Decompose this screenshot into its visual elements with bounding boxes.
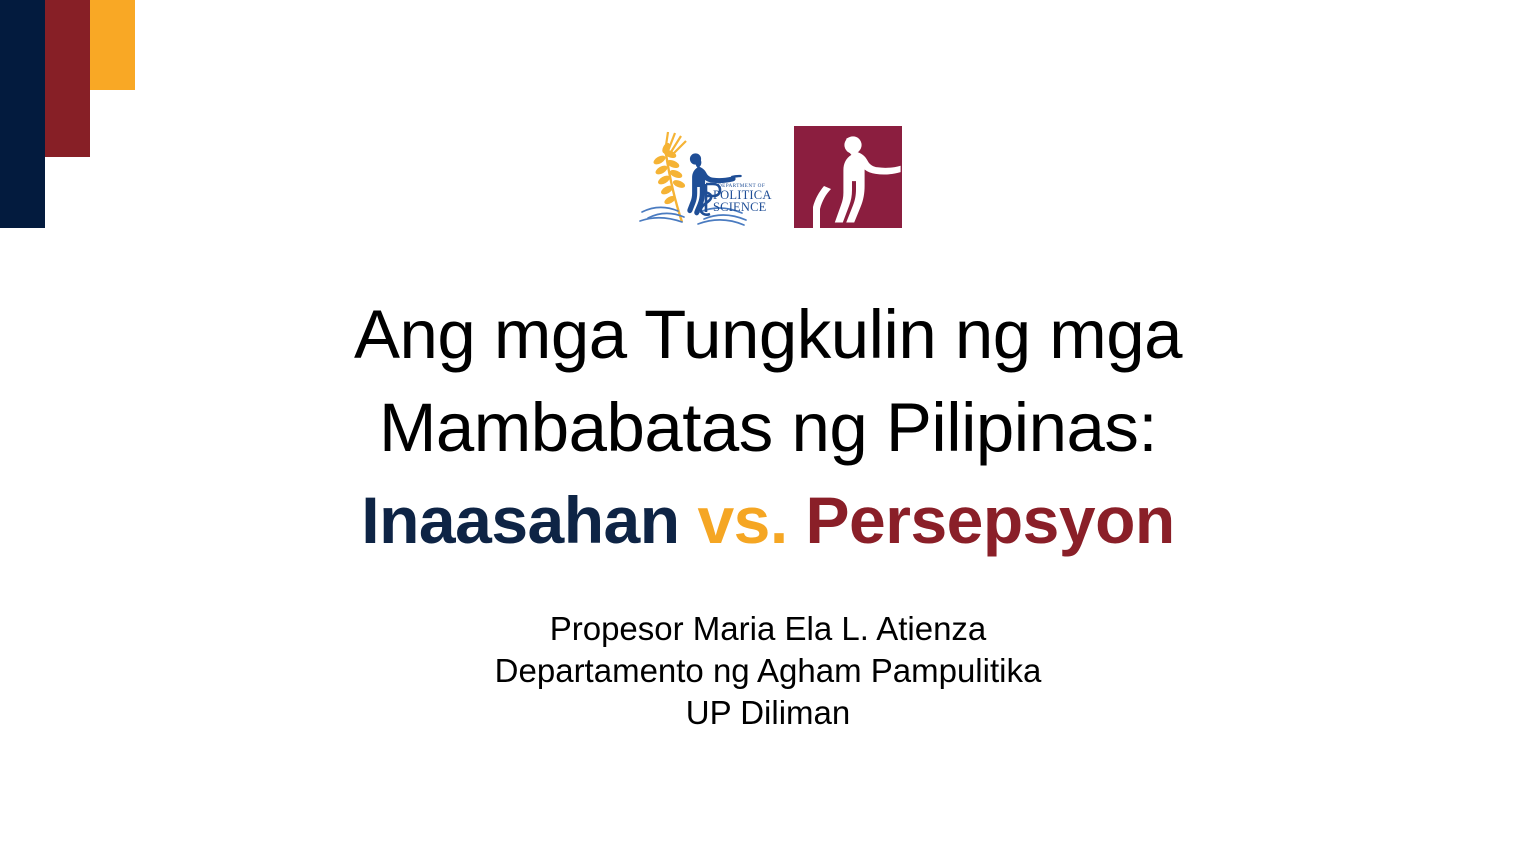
subtitle-line: Inaasahan vs. Persepsyon (188, 474, 1348, 566)
logo-row: DEPARTMENT OF POLITICAL SCIENCE (0, 126, 1536, 232)
subtitle-word-vs: vs. (697, 483, 787, 557)
page-title: Ang mga Tungkulin ng mga Mambabatas ng P… (188, 288, 1348, 566)
title-line-2: Mambabatas ng Pilipinas: (188, 381, 1348, 474)
logo-science-text: SCIENCE (713, 200, 767, 214)
subtitle-word-persepsyon: Persepsyon (806, 483, 1175, 557)
up-diliman-oblation-logo (794, 126, 904, 230)
department-of-political-science-logo: DEPARTMENT OF POLITICAL SCIENCE (632, 126, 772, 232)
author-campus: UP Diliman (188, 692, 1348, 734)
orange-bar (90, 0, 135, 90)
title-slide: DEPARTMENT OF POLITICAL SCIENCE Ang mga … (0, 0, 1536, 864)
author-name: Propesor Maria Ela L. Atienza (188, 608, 1348, 650)
title-line-1: Ang mga Tungkulin ng mga (188, 288, 1348, 381)
author-affiliation-block: Propesor Maria Ela L. Atienza Departamen… (188, 608, 1348, 734)
author-department: Departamento ng Agham Pampulitika (188, 650, 1348, 692)
subtitle-word-inaasahan: Inaasahan (361, 483, 679, 557)
